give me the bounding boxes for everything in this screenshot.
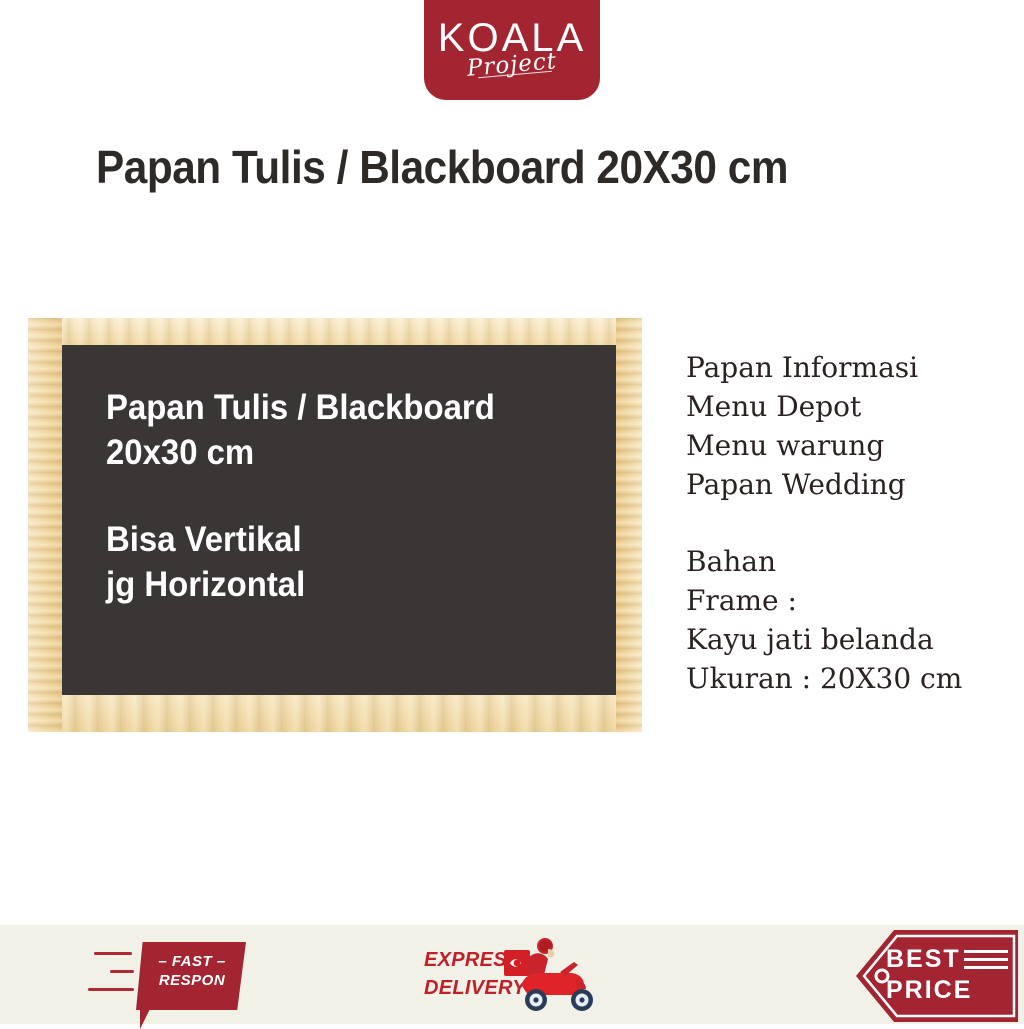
board-text-line-1: Papan Tulis / Blackboard xyxy=(106,388,495,427)
fast-respon-badge: – FAST – RESPON xyxy=(88,930,318,1020)
board-text-line-3: Bisa Vertikal xyxy=(106,520,302,559)
scooter-rider-icon xyxy=(498,936,628,1016)
board-text-gap xyxy=(106,475,576,517)
product-description: Papan Informasi Menu Depot Menu warung P… xyxy=(686,348,1016,698)
use-case-2: Menu Depot xyxy=(686,390,861,423)
use-case-3: Menu warung xyxy=(686,429,884,462)
board-frame-left-rail xyxy=(28,318,62,732)
use-case-4: Papan Wedding xyxy=(686,468,906,501)
fast-respon-line-2: RESPON xyxy=(159,972,225,989)
price-tag-line-icon xyxy=(964,950,1008,953)
best-price-label: BEST PRICE xyxy=(886,944,994,1006)
product-listing-image: KOALA Project Papan Tulis / Blackboard 2… xyxy=(0,0,1024,1024)
product-blackboard: Papan Tulis / Blackboard 20x30 cm Bisa V… xyxy=(28,318,642,732)
description-spacer xyxy=(686,504,1016,542)
board-frame-top-rail xyxy=(28,318,642,345)
speed-line-icon xyxy=(110,970,134,973)
spec-4: Ukuran : 20X30 cm xyxy=(686,662,962,695)
use-case-1: Papan Informasi xyxy=(686,351,918,384)
price-tag-line-icon xyxy=(964,966,1008,969)
best-price-line-2: PRICE xyxy=(886,976,972,1004)
express-delivery-badge: EXPRESS DELIVERY xyxy=(424,938,624,1014)
board-text-line-2: 20x30 cm xyxy=(106,433,254,472)
page-title: Papan Tulis / Blackboard 20X30 cm xyxy=(96,140,906,194)
board-overlay-text: Papan Tulis / Blackboard 20x30 cm Bisa V… xyxy=(106,385,576,607)
speed-line-icon xyxy=(88,988,134,991)
brand-logo: KOALA Project xyxy=(424,0,600,100)
speech-bubble-tail-icon xyxy=(140,1009,150,1029)
board-text-line-4: jg Horizontal xyxy=(106,565,305,604)
price-tag-line-icon xyxy=(964,958,1008,961)
spec-3: Kayu jati belanda xyxy=(686,623,934,656)
best-price-line-1: BEST xyxy=(886,945,961,973)
speed-line-icon xyxy=(94,952,132,955)
fast-respon-label: – FAST – RESPON xyxy=(136,952,248,990)
spec-2: Frame : xyxy=(686,584,797,617)
best-price-badge: BEST PRICE xyxy=(852,928,1020,1024)
board-surface: Papan Tulis / Blackboard 20x30 cm Bisa V… xyxy=(62,345,616,695)
fast-respon-line-1: – FAST – xyxy=(158,953,225,970)
board-frame-bottom-rail xyxy=(28,694,642,732)
board-frame-right-rail xyxy=(616,318,642,732)
spec-1: Bahan xyxy=(686,545,776,578)
